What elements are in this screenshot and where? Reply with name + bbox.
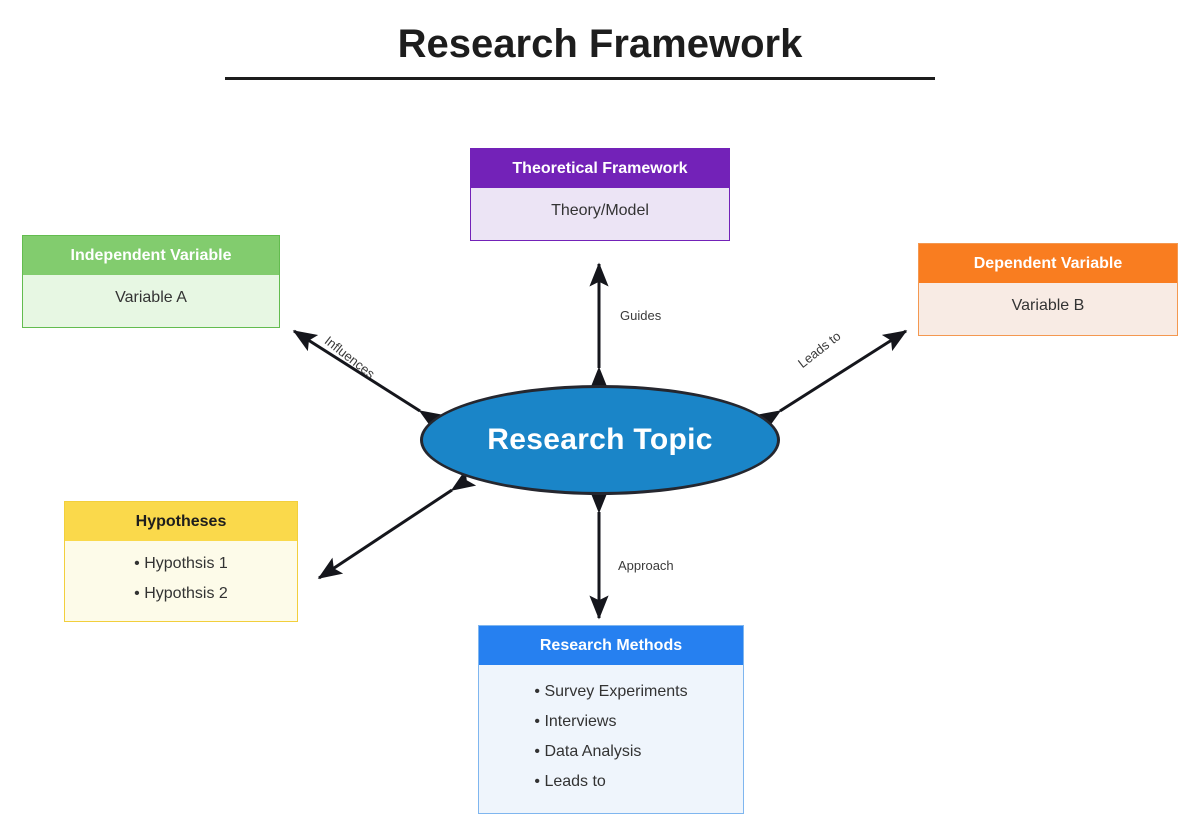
node-independent-variable-header: Independent Variable	[23, 236, 279, 275]
edge-label-influences: Influences	[322, 333, 378, 381]
node-dependent-variable-header: Dependent Variable	[919, 244, 1177, 283]
node-hypotheses[interactable]: Hypotheses • Hypothsis 1 • Hypothsis 2	[64, 501, 298, 622]
edge-label-leads-to: Leads to	[795, 328, 844, 371]
list-item: • Data Analysis	[534, 737, 687, 767]
node-independent-variable-body: Variable A	[23, 275, 279, 327]
node-theoretical-framework-header: Theoretical Framework	[471, 149, 729, 188]
node-independent-variable[interactable]: Independent Variable Variable A	[22, 235, 280, 328]
node-theoretical-framework[interactable]: Theoretical Framework Theory/Model	[470, 148, 730, 241]
research-methods-list: • Survey Experiments • Interviews • Data…	[534, 677, 687, 797]
node-research-methods-header: Research Methods	[479, 626, 743, 665]
list-item: • Hypothsis 1	[134, 549, 228, 579]
diagram-canvas: Research Framework Guides Influences Lea…	[0, 0, 1200, 837]
node-hypotheses-header: Hypotheses	[65, 502, 297, 541]
node-dependent-variable[interactable]: Dependent Variable Variable B	[918, 243, 1178, 336]
node-research-topic-label: Research Topic	[487, 423, 712, 457]
list-item: • Leads to	[534, 767, 687, 797]
node-research-methods-body: • Survey Experiments • Interviews • Data…	[479, 665, 743, 813]
list-item: • Hypothsis 2	[134, 579, 228, 609]
page-title-text: Research Framework	[398, 22, 803, 66]
edge-label-approach: Approach	[618, 558, 674, 573]
edge-hypotheses-line	[319, 490, 452, 578]
node-research-topic[interactable]: Research Topic	[420, 385, 780, 495]
edge-leads-to-line	[780, 331, 906, 411]
node-dependent-variable-body: Variable B	[919, 283, 1177, 335]
list-item: • Interviews	[534, 707, 687, 737]
hypotheses-list: • Hypothsis 1 • Hypothsis 2	[134, 549, 228, 609]
page-title: Research Framework	[0, 18, 1200, 70]
node-research-methods[interactable]: Research Methods • Survey Experiments • …	[478, 625, 744, 814]
node-hypotheses-body: • Hypothsis 1 • Hypothsis 2	[65, 541, 297, 621]
list-item: • Survey Experiments	[534, 677, 687, 707]
title-divider	[225, 77, 935, 80]
edge-label-guides: Guides	[620, 308, 661, 323]
node-theoretical-framework-body: Theory/Model	[471, 188, 729, 240]
